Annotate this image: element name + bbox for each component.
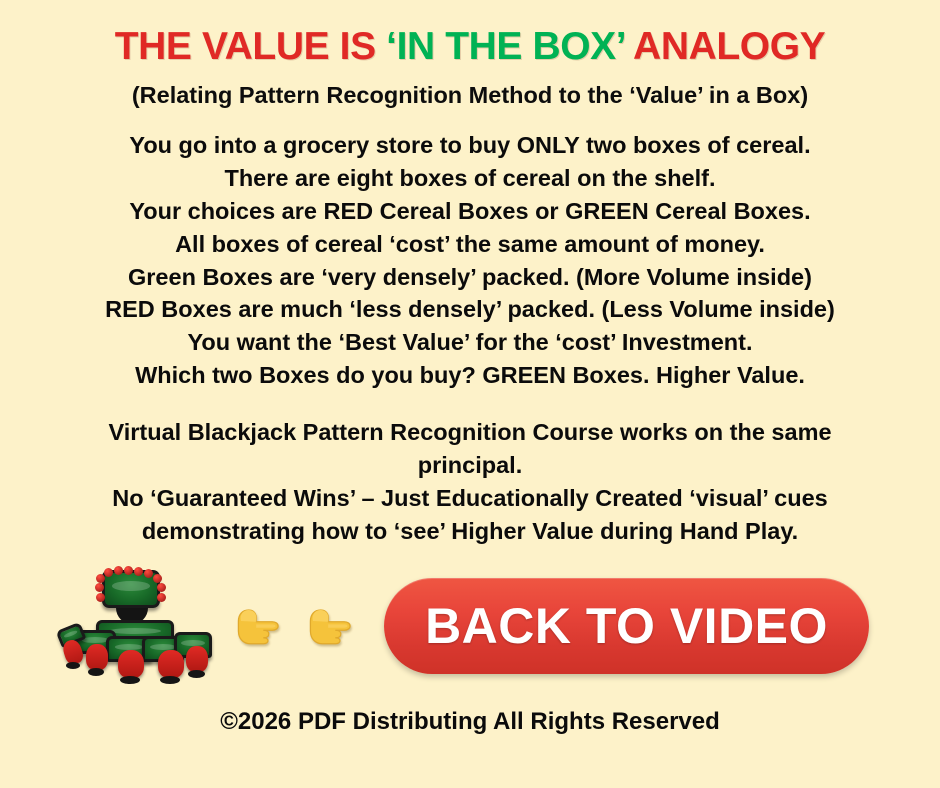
promo-page: THE VALUE IS ‘IN THE BOX’ ANALOGY (Relat…: [0, 0, 940, 788]
blackjack-tables-image: [62, 568, 212, 684]
pointing-right-hand-icon-1: [230, 599, 284, 653]
copyright-footer: ©2026 PDF Distributing All Rights Reserv…: [220, 708, 720, 736]
pointing-hands-group: [230, 599, 356, 653]
analogy-line-3: Your choices are RED Cereal Boxes or GRE…: [105, 195, 835, 228]
page-subtitle: (Relating Pattern Recognition Method to …: [132, 82, 808, 109]
disclaimer-line-1: Virtual Blackjack Pattern Recognition Co…: [55, 416, 885, 482]
course-disclaimer-block: Virtual Blackjack Pattern Recognition Co…: [55, 416, 885, 548]
analogy-line-8: Which two Boxes do you buy? GREEN Boxes.…: [105, 359, 835, 392]
title-segment-red-1: THE VALUE IS: [115, 25, 386, 68]
analogy-line-6: RED Boxes are much ‘less densely’ packed…: [105, 293, 835, 326]
analogy-line-4: All boxes of cereal ‘cost’ the same amou…: [105, 228, 835, 261]
analogy-line-1: You go into a grocery store to buy ONLY …: [105, 129, 835, 162]
analogy-line-2: There are eight boxes of cereal on the s…: [105, 162, 835, 195]
back-to-video-button[interactable]: BACK TO VIDEO: [384, 578, 869, 674]
title-segment-green: ‘IN THE BOX’: [386, 25, 624, 68]
analogy-line-5: Green Boxes are ‘very densely’ packed. (…: [105, 261, 835, 294]
title-segment-red-2: ANALOGY: [624, 25, 825, 68]
pointing-right-hand-icon-2: [302, 599, 356, 653]
analogy-paragraph-block: You go into a grocery store to buy ONLY …: [105, 129, 835, 392]
cta-row: BACK TO VIDEO: [0, 566, 940, 686]
cta-button-wrapper: BACK TO VIDEO: [384, 578, 869, 674]
page-title: THE VALUE IS ‘IN THE BOX’ ANALOGY: [115, 27, 826, 68]
analogy-line-7: You want the ‘Best Value’ for the ‘cost’…: [105, 326, 835, 359]
disclaimer-line-2: No ‘Guaranteed Wins’ – Just Educationall…: [55, 482, 885, 548]
